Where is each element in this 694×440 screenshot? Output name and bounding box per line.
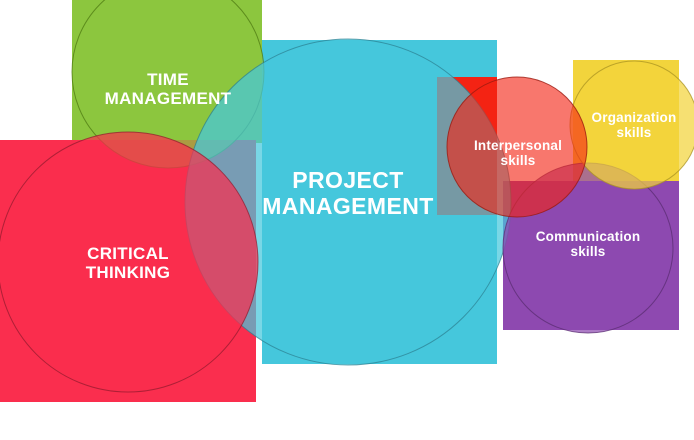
venn-diagram-canvas: TIME MANAGEMENT PROJECT MANAGEMENT CRITI… [0, 0, 694, 440]
red-circle [0, 132, 258, 392]
interpersonal-circle [447, 77, 587, 217]
yellow-circle [570, 61, 694, 189]
venn-diagram-graphic [0, 0, 694, 440]
circle-layer [0, 0, 694, 392]
